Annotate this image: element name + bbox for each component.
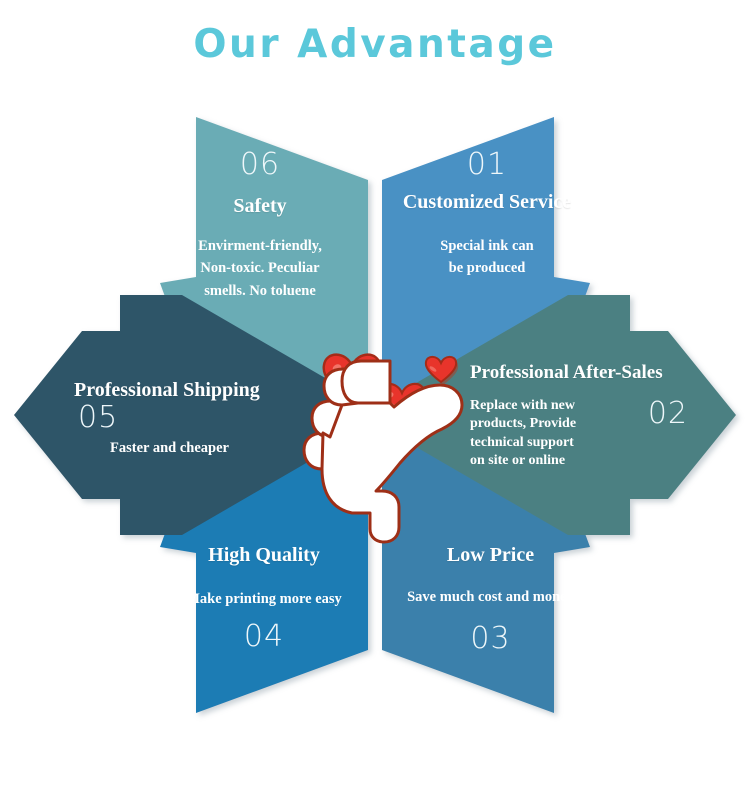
page-title: Our Advantage	[0, 22, 750, 67]
infographic-page: Our Advantage	[0, 0, 750, 800]
advantage-wheel: 06 Safety Envirment-friendly, Non-toxic.…	[0, 95, 750, 735]
wheel-svg	[0, 95, 750, 735]
